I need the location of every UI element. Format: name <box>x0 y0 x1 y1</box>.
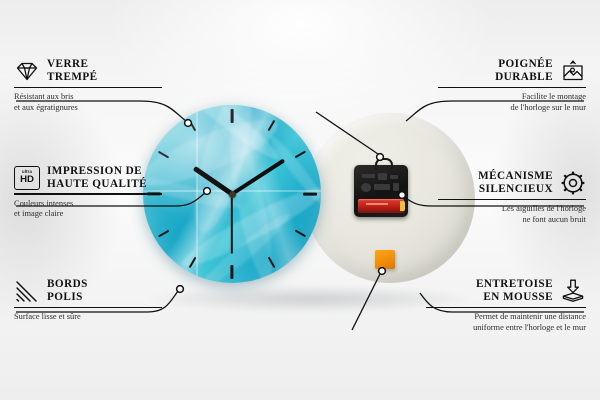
feature-description: Permet de maintenir une distanceuniforme… <box>426 312 586 332</box>
infographic-canvas: VERRETREMPÉ Résistant aux briset aux égr… <box>0 0 600 400</box>
feature-divider <box>426 307 586 308</box>
arrow-onto-pad-icon <box>560 278 586 304</box>
feature-poignee-durable[interactable]: POIGNÉEDURABLE Facilite le montagede l'h… <box>438 58 586 113</box>
feature-header: VERRETREMPÉ <box>14 58 162 84</box>
feature-title: ENTRETOISEEN MOUSSE <box>476 278 553 303</box>
feature-header: ENTRETOISEEN MOUSSE <box>426 278 586 304</box>
feature-description: Surface lisse et sûre <box>14 312 162 322</box>
connector-dot-entretoise <box>379 268 386 275</box>
ultra-hd-icon-main: HD <box>20 175 34 185</box>
feature-entretoise-mousse[interactable]: ENTRETOISEEN MOUSSE Permet de maintenir … <box>426 278 586 333</box>
feature-mecanisme-silencieux[interactable]: MÉCANISMESILENCIEUX <box>438 170 586 225</box>
feature-impression-haute-qualite[interactable]: ultra HD IMPRESSION DEHAUTE QUALITÉ Coul… <box>14 165 162 219</box>
feature-divider <box>14 87 162 88</box>
connector-dot-verre-trempe <box>185 120 192 127</box>
feature-title: BORDSPOLIS <box>47 278 88 303</box>
feature-description: Les aiguilles de l'horlogene font aucun … <box>438 204 586 224</box>
feature-header: BORDSPOLIS <box>14 278 162 304</box>
feature-title: VERRETREMPÉ <box>47 58 98 83</box>
ultra-hd-icon: ultra HD <box>14 166 40 190</box>
feature-header: POIGNÉEDURABLE <box>438 58 586 84</box>
feature-divider <box>438 87 586 88</box>
diamond-icon <box>14 58 40 84</box>
feature-divider <box>14 307 162 308</box>
feature-description: Résistant aux briset aux égratignures <box>14 92 162 112</box>
feature-divider <box>438 199 586 200</box>
feature-title: POIGNÉEDURABLE <box>495 58 553 83</box>
feature-header: ultra HD IMPRESSION DEHAUTE QUALITÉ <box>14 165 162 190</box>
feature-title: IMPRESSION DEHAUTE QUALITÉ <box>47 165 147 190</box>
feature-title: MÉCANISMESILENCIEUX <box>478 170 553 195</box>
feature-bords-polis[interactable]: BORDSPOLIS Surface lisse et sûre <box>14 278 162 323</box>
connector-leader-poignee <box>316 112 378 154</box>
connector-dot-mecanisme <box>399 192 406 199</box>
feature-description: Facilite le montagede l'horloge sur le m… <box>438 92 586 112</box>
gear-icon <box>560 170 586 196</box>
connector-leader-entretoise <box>352 274 380 330</box>
connector-dot-impression <box>204 188 211 195</box>
feature-description: Couleurs intenseset image claire <box>14 199 162 219</box>
diagonal-lines-icon <box>14 278 40 304</box>
feature-divider <box>14 193 162 194</box>
connector-dot-poignee <box>377 154 384 161</box>
feature-verre-trempe[interactable]: VERRETREMPÉ Résistant aux briset aux égr… <box>14 58 162 113</box>
feature-header: MÉCANISMESILENCIEUX <box>438 170 586 196</box>
connector-dot-bords-polis <box>177 286 184 293</box>
hanging-frame-icon <box>560 58 586 84</box>
